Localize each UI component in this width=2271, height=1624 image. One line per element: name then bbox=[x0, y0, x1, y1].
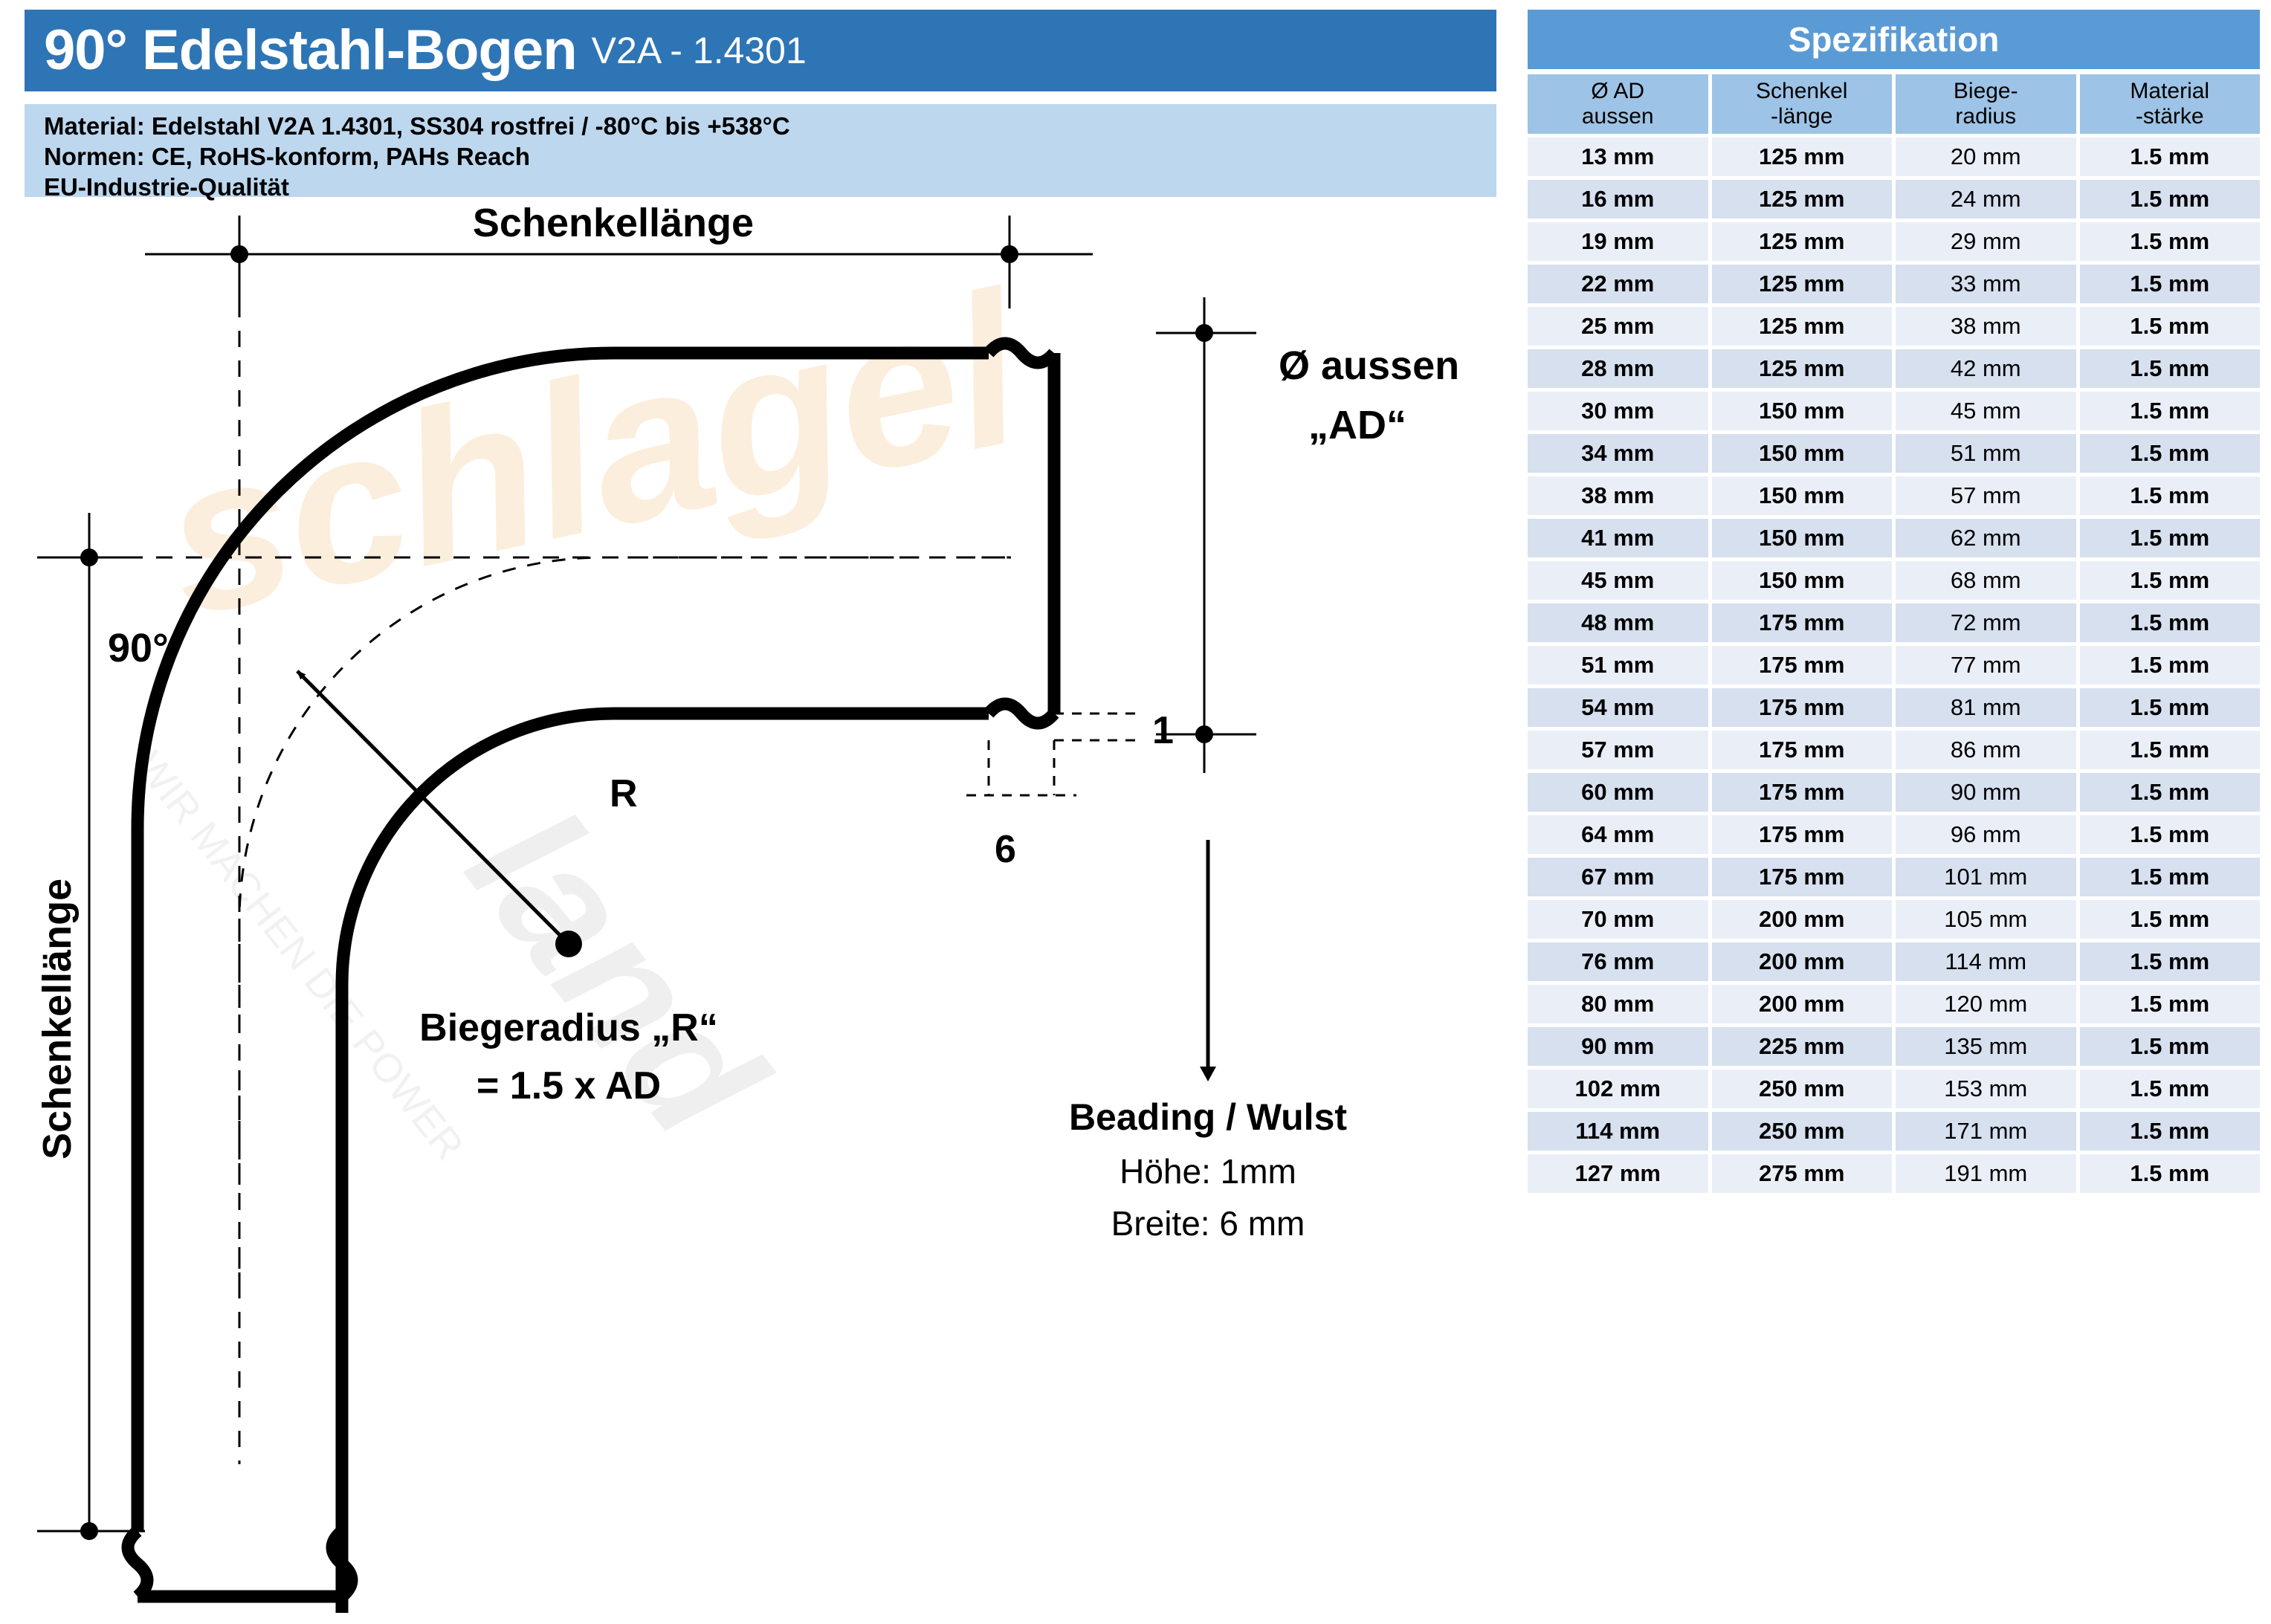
specification-table: Spezifikation Ø AD aussen Schenkel -läng… bbox=[1528, 10, 2260, 1197]
table-cell: 150 mm bbox=[1712, 561, 1893, 600]
table-cell: 81 mm bbox=[1896, 688, 2076, 727]
table-cell: 38 mm bbox=[1528, 476, 1708, 515]
table-cell: 70 mm bbox=[1528, 900, 1708, 939]
table-row: 64 mm175 mm96 mm1.5 mm bbox=[1528, 815, 2260, 854]
left-panel: 90° Edelstahl-Bogen V2A - 1.4301 Materia… bbox=[0, 0, 1516, 1624]
table-cell: 45 mm bbox=[1896, 392, 2076, 430]
table-cell: 1.5 mm bbox=[2080, 138, 2261, 176]
table-cell: 125 mm bbox=[1712, 138, 1893, 176]
dim-dot-left-top bbox=[80, 549, 98, 566]
page-subtitle: V2A - 1.4301 bbox=[577, 32, 807, 69]
diameter-label-line1: Ø aussen bbox=[1279, 343, 1459, 388]
table-cell: 1.5 mm bbox=[2080, 349, 2261, 388]
column-header-schenkellaenge: Schenkel -länge bbox=[1712, 74, 1893, 134]
column-header-ad-l2: aussen bbox=[1528, 104, 1708, 129]
beading-detail-lines bbox=[966, 714, 1137, 795]
table-row: 45 mm150 mm68 mm1.5 mm bbox=[1528, 561, 2260, 600]
table-header-row: Ø AD aussen Schenkel -länge Biege- radiu… bbox=[1528, 74, 2260, 134]
table-cell: 42 mm bbox=[1896, 349, 2076, 388]
table-row: 90 mm225 mm135 mm1.5 mm bbox=[1528, 1027, 2260, 1066]
radius-letter-label: R bbox=[610, 772, 638, 815]
info-line-quality: EU-Industrie-Qualität bbox=[44, 172, 1496, 203]
table-row: 114 mm250 mm171 mm1.5 mm bbox=[1528, 1112, 2260, 1151]
radius-center-dot bbox=[555, 931, 582, 957]
table-cell: 34 mm bbox=[1528, 434, 1708, 473]
table-cell: 54 mm bbox=[1528, 688, 1708, 727]
table-row: 22 mm125 mm33 mm1.5 mm bbox=[1528, 265, 2260, 303]
table-row: 13 mm125 mm20 mm1.5 mm bbox=[1528, 138, 2260, 176]
radius-label-line1: Biegeradius „R“ bbox=[419, 1006, 718, 1049]
table-cell: 1.5 mm bbox=[2080, 985, 2261, 1023]
table-cell: 13 mm bbox=[1528, 138, 1708, 176]
table-cell: 101 mm bbox=[1896, 858, 2076, 896]
table-cell: 102 mm bbox=[1528, 1070, 1708, 1108]
column-header-schenkel-l2: -länge bbox=[1712, 104, 1893, 129]
beading-height-label: Höhe: 1mm bbox=[1120, 1152, 1296, 1191]
table-cell: 175 mm bbox=[1712, 815, 1893, 854]
table-cell: 1.5 mm bbox=[2080, 942, 2261, 981]
table-cell: 171 mm bbox=[1896, 1112, 2076, 1151]
table-cell: 96 mm bbox=[1896, 815, 2076, 854]
beading-width-label: Breite: 6 mm bbox=[1111, 1204, 1305, 1243]
column-header-material-l2: -stärke bbox=[2080, 104, 2261, 129]
table-row: 67 mm175 mm101 mm1.5 mm bbox=[1528, 858, 2260, 896]
beading-bump-left-bottom bbox=[128, 1531, 147, 1596]
technical-drawing: schlagel land WIR MACHEN DIE POWER bbox=[0, 201, 1516, 1613]
table-cell: 150 mm bbox=[1712, 434, 1893, 473]
table-row: 102 mm250 mm153 mm1.5 mm bbox=[1528, 1070, 2260, 1108]
table-cell: 200 mm bbox=[1712, 942, 1893, 981]
table-cell: 1.5 mm bbox=[2080, 858, 2261, 896]
spec-table-title: Spezifikation bbox=[1528, 10, 2260, 69]
column-header-biege-l2: radius bbox=[1896, 104, 2076, 129]
column-header-material-l1: Material bbox=[2080, 79, 2261, 104]
table-cell: 29 mm bbox=[1896, 222, 2076, 261]
material-info-band: Material: Edelstahl V2A 1.4301, SS304 ro… bbox=[25, 104, 1496, 197]
table-cell: 20 mm bbox=[1896, 138, 2076, 176]
table-row: 127 mm275 mm191 mm1.5 mm bbox=[1528, 1154, 2260, 1193]
table-cell: 48 mm bbox=[1528, 604, 1708, 642]
table-row: 41 mm150 mm62 mm1.5 mm bbox=[1528, 519, 2260, 557]
table-cell: 38 mm bbox=[1896, 307, 2076, 346]
table-cell: 57 mm bbox=[1896, 476, 2076, 515]
table-cell: 1.5 mm bbox=[2080, 1027, 2261, 1066]
info-line-normen: Normen: CE, RoHS-konform, PAHs Reach bbox=[44, 142, 1496, 172]
title-bar: 90° Edelstahl-Bogen V2A - 1.4301 bbox=[25, 10, 1496, 91]
table-cell: 16 mm bbox=[1528, 180, 1708, 219]
table-cell: 33 mm bbox=[1896, 265, 2076, 303]
table-cell: 125 mm bbox=[1712, 222, 1893, 261]
table-cell: 1.5 mm bbox=[2080, 1154, 2261, 1193]
table-cell: 120 mm bbox=[1896, 985, 2076, 1023]
table-cell: 1.5 mm bbox=[2080, 900, 2261, 939]
table-cell: 114 mm bbox=[1528, 1112, 1708, 1151]
table-cell: 1.5 mm bbox=[2080, 731, 2261, 769]
dim-dot-left-bottom bbox=[80, 1522, 98, 1540]
table-cell: 175 mm bbox=[1712, 731, 1893, 769]
table-row: 30 mm150 mm45 mm1.5 mm bbox=[1528, 392, 2260, 430]
table-cell: 1.5 mm bbox=[2080, 1070, 2261, 1108]
table-row: 48 mm175 mm72 mm1.5 mm bbox=[1528, 604, 2260, 642]
column-header-schenkel-l1: Schenkel bbox=[1712, 79, 1893, 104]
table-cell: 200 mm bbox=[1712, 985, 1893, 1023]
table-cell: 105 mm bbox=[1896, 900, 2076, 939]
table-cell: 62 mm bbox=[1896, 519, 2076, 557]
column-header-biegeradius: Biege- radius bbox=[1896, 74, 2076, 134]
table-cell: 51 mm bbox=[1896, 434, 2076, 473]
column-header-materialstaerke: Material -stärke bbox=[2080, 74, 2261, 134]
table-cell: 125 mm bbox=[1712, 265, 1893, 303]
beading-height-callout: 1 bbox=[1152, 709, 1174, 752]
table-cell: 1.5 mm bbox=[2080, 646, 2261, 685]
table-cell: 135 mm bbox=[1896, 1027, 2076, 1066]
table-cell: 80 mm bbox=[1528, 985, 1708, 1023]
table-cell: 153 mm bbox=[1896, 1070, 2076, 1108]
table-cell: 1.5 mm bbox=[2080, 604, 2261, 642]
beading-width-callout: 6 bbox=[995, 828, 1016, 871]
column-header-ad-l1: Ø AD bbox=[1528, 79, 1708, 104]
table-cell: 1.5 mm bbox=[2080, 476, 2261, 515]
table-row: 57 mm175 mm86 mm1.5 mm bbox=[1528, 731, 2260, 769]
table-cell: 1.5 mm bbox=[2080, 222, 2261, 261]
radius-arrow-line bbox=[297, 671, 569, 944]
table-cell: 191 mm bbox=[1896, 1154, 2076, 1193]
table-cell: 68 mm bbox=[1896, 561, 2076, 600]
table-cell: 127 mm bbox=[1528, 1154, 1708, 1193]
table-cell: 200 mm bbox=[1712, 900, 1893, 939]
table-cell: 250 mm bbox=[1712, 1112, 1893, 1151]
table-cell: 125 mm bbox=[1712, 307, 1893, 346]
table-cell: 114 mm bbox=[1896, 942, 2076, 981]
table-row: 38 mm150 mm57 mm1.5 mm bbox=[1528, 476, 2260, 515]
table-cell: 60 mm bbox=[1528, 773, 1708, 812]
table-cell: 250 mm bbox=[1712, 1070, 1893, 1108]
table-cell: 175 mm bbox=[1712, 858, 1893, 896]
dim-dot-diameter-top bbox=[1195, 324, 1213, 342]
angle-label: 90° bbox=[108, 626, 169, 670]
dim-dot-top-right bbox=[1001, 245, 1018, 263]
table-cell: 67 mm bbox=[1528, 858, 1708, 896]
table-cell: 25 mm bbox=[1528, 307, 1708, 346]
table-cell: 1.5 mm bbox=[2080, 392, 2261, 430]
table-cell: 1.5 mm bbox=[2080, 815, 2261, 854]
top-dimension-label: Schenkellänge bbox=[473, 201, 754, 245]
table-cell: 275 mm bbox=[1712, 1154, 1893, 1193]
table-cell: 1.5 mm bbox=[2080, 307, 2261, 346]
table-cell: 19 mm bbox=[1528, 222, 1708, 261]
table-row: 34 mm150 mm51 mm1.5 mm bbox=[1528, 434, 2260, 473]
table-cell: 1.5 mm bbox=[2080, 773, 2261, 812]
table-cell: 1.5 mm bbox=[2080, 1112, 2261, 1151]
table-row: 70 mm200 mm105 mm1.5 mm bbox=[1528, 900, 2260, 939]
table-cell: 225 mm bbox=[1712, 1027, 1893, 1066]
table-row: 28 mm125 mm42 mm1.5 mm bbox=[1528, 349, 2260, 388]
table-cell: 125 mm bbox=[1712, 349, 1893, 388]
table-cell: 22 mm bbox=[1528, 265, 1708, 303]
column-header-ad: Ø AD aussen bbox=[1528, 74, 1708, 134]
table-cell: 125 mm bbox=[1712, 180, 1893, 219]
table-cell: 77 mm bbox=[1896, 646, 2076, 685]
table-cell: 175 mm bbox=[1712, 688, 1893, 727]
table-cell: 24 mm bbox=[1896, 180, 2076, 219]
table-cell: 45 mm bbox=[1528, 561, 1708, 600]
table-row: 19 mm125 mm29 mm1.5 mm bbox=[1528, 222, 2260, 261]
table-row: 80 mm200 mm120 mm1.5 mm bbox=[1528, 985, 2260, 1023]
table-cell: 1.5 mm bbox=[2080, 519, 2261, 557]
table-cell: 30 mm bbox=[1528, 392, 1708, 430]
beading-title-label: Beading / Wulst bbox=[1069, 1096, 1347, 1138]
table-cell: 76 mm bbox=[1528, 942, 1708, 981]
table-cell: 1.5 mm bbox=[2080, 265, 2261, 303]
table-row: 60 mm175 mm90 mm1.5 mm bbox=[1528, 773, 2260, 812]
table-body: 13 mm125 mm20 mm1.5 mm16 mm125 mm24 mm1.… bbox=[1528, 138, 2260, 1193]
table-cell: 64 mm bbox=[1528, 815, 1708, 854]
beading-bump-bottom-right bbox=[989, 704, 1054, 723]
table-cell: 150 mm bbox=[1712, 519, 1893, 557]
left-dimension-label: Schenkellänge bbox=[35, 879, 80, 1159]
table-row: 51 mm175 mm77 mm1.5 mm bbox=[1528, 646, 2260, 685]
page-title: 90° Edelstahl-Bogen bbox=[25, 22, 577, 79]
table-cell: 1.5 mm bbox=[2080, 688, 2261, 727]
table-cell: 150 mm bbox=[1712, 476, 1893, 515]
radius-label-line2: = 1.5 x AD bbox=[477, 1064, 661, 1107]
table-row: 54 mm175 mm81 mm1.5 mm bbox=[1528, 688, 2260, 727]
table-cell: 41 mm bbox=[1528, 519, 1708, 557]
watermark-brand-text: schlagel bbox=[146, 246, 1044, 663]
table-cell: 175 mm bbox=[1712, 604, 1893, 642]
table-cell: 1.5 mm bbox=[2080, 561, 2261, 600]
diameter-label-line2: „AD“ bbox=[1308, 403, 1406, 447]
table-row: 76 mm200 mm114 mm1.5 mm bbox=[1528, 942, 2260, 981]
table-cell: 1.5 mm bbox=[2080, 180, 2261, 219]
table-row: 25 mm125 mm38 mm1.5 mm bbox=[1528, 307, 2260, 346]
table-cell: 1.5 mm bbox=[2080, 434, 2261, 473]
table-cell: 57 mm bbox=[1528, 731, 1708, 769]
table-row: 16 mm125 mm24 mm1.5 mm bbox=[1528, 180, 2260, 219]
table-cell: 175 mm bbox=[1712, 646, 1893, 685]
watermark-tagline-text: WIR MACHEN DIE POWER bbox=[127, 743, 473, 1168]
table-cell: 86 mm bbox=[1896, 731, 2076, 769]
table-cell: 51 mm bbox=[1528, 646, 1708, 685]
table-cell: 72 mm bbox=[1896, 604, 2076, 642]
info-line-material: Material: Edelstahl V2A 1.4301, SS304 ro… bbox=[44, 111, 1496, 142]
table-cell: 90 mm bbox=[1528, 1027, 1708, 1066]
dim-dot-diameter-bottom bbox=[1195, 725, 1213, 743]
table-cell: 150 mm bbox=[1712, 392, 1893, 430]
table-cell: 90 mm bbox=[1896, 773, 2076, 812]
watermark-brand-shadow: land bbox=[432, 774, 801, 1171]
table-cell: 175 mm bbox=[1712, 773, 1893, 812]
dim-dot-top-left bbox=[230, 245, 248, 263]
column-header-biege-l1: Biege- bbox=[1896, 79, 2076, 104]
table-cell: 28 mm bbox=[1528, 349, 1708, 388]
